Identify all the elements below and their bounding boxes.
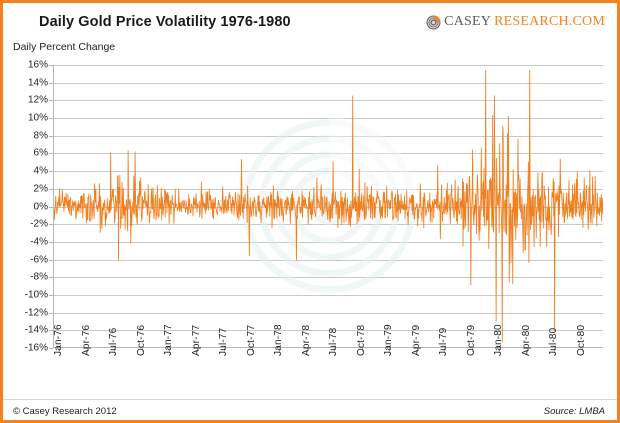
y-tick-label: 4% [4, 166, 48, 177]
y-tick-label: -10% [4, 289, 48, 300]
y-tick-label: -4% [4, 236, 48, 247]
x-tick-label: Oct-76 [136, 325, 147, 356]
chart-page: Daily Gold Price Volatility 1976-1980 CA… [0, 0, 620, 423]
y-tick-label: 2% [4, 183, 48, 194]
x-tick-label: Apr-80 [521, 325, 532, 356]
x-tick-label: Oct-79 [466, 325, 477, 356]
y-tick-label: 12% [4, 95, 48, 106]
x-tick-label: Oct-80 [576, 325, 587, 356]
copyright-note: © Casey Research 2012 [13, 406, 117, 417]
plot-frame: 16%14%12%10%8%6%4%2%0%-2%-4%-6%-8%-10%-1… [53, 65, 603, 348]
footer-divider [3, 399, 617, 400]
y-tick-label: -6% [4, 254, 48, 265]
x-tick-label: Apr-78 [301, 325, 312, 356]
x-tick-label: Jan-78 [273, 324, 284, 356]
x-tick-label: Jan-80 [493, 324, 504, 356]
y-tick-label: -14% [4, 325, 48, 336]
x-tick-label: Oct-77 [246, 325, 257, 356]
y-tick-label: 8% [4, 130, 48, 141]
y-tick-label: -2% [4, 219, 48, 230]
y-tick-label: -8% [4, 272, 48, 283]
data-series-line [54, 65, 603, 347]
x-tick-label: Apr-79 [411, 325, 422, 356]
y-tick-label: 6% [4, 148, 48, 159]
x-tick-label: Jul-79 [438, 328, 449, 356]
brand-name-casey: CASEY [444, 14, 491, 30]
x-tick-label: Jul-78 [328, 328, 339, 356]
plot-area [53, 65, 603, 348]
brand-name-research: RESEARCH.COM [494, 14, 605, 30]
y-axis-title: Daily Percent Change [13, 41, 115, 53]
x-tick-label: Jul-80 [548, 328, 559, 356]
x-tick-label: Apr-76 [81, 325, 92, 356]
x-tick-label: Apr-77 [191, 325, 202, 356]
y-tick-label: 14% [4, 77, 48, 88]
x-tick-label: Jan-79 [383, 324, 394, 356]
x-tick-label: Jul-76 [108, 328, 119, 356]
y-tick-label: 10% [4, 113, 48, 124]
y-tick-label: 0% [4, 201, 48, 212]
page-title: Daily Gold Price Volatility 1976-1980 [39, 14, 291, 30]
x-tick-label: Jul-77 [218, 328, 229, 356]
series-path [54, 70, 603, 342]
y-tick-label: 16% [4, 60, 48, 71]
source-note: Source: LMBA [544, 406, 605, 417]
x-tick-label: Jan-77 [163, 324, 174, 356]
y-tick-label: -12% [4, 307, 48, 318]
x-tick-label: Oct-78 [356, 325, 367, 356]
x-tick-label: Jan-76 [53, 324, 64, 356]
casey-spiral-logo-icon [426, 15, 441, 30]
brand-logo: CASEY RESEARCH.COM [426, 14, 605, 30]
y-tick-label: -16% [4, 343, 48, 354]
